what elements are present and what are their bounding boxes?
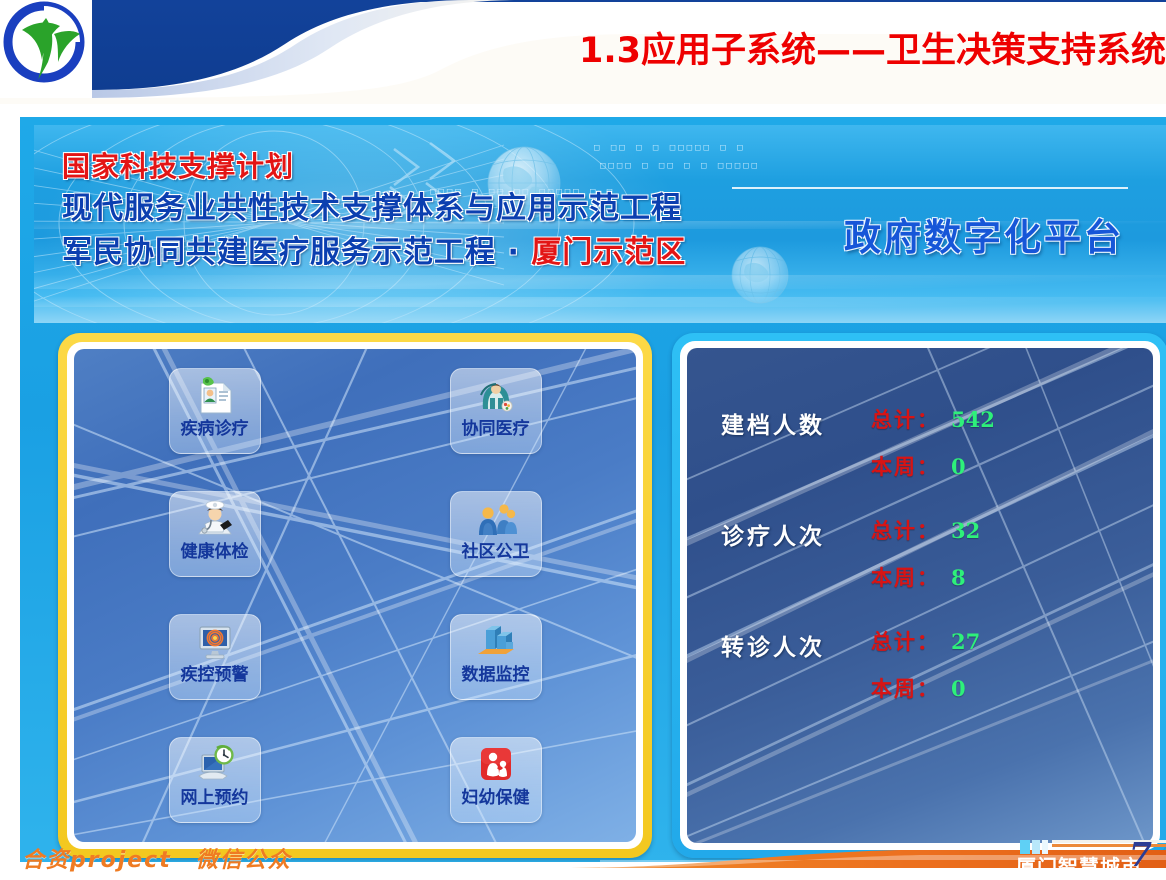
app-tile-label: 社区公卫	[462, 542, 530, 562]
stat-week-key: 本周：	[871, 451, 940, 481]
statistics-panel: 建档人数 总计： 542 本周： 0	[672, 333, 1166, 858]
stat-week: 本周： 8	[871, 562, 980, 592]
banner-line3-main: 军民协同共建医疗服务示范工程 ·	[62, 235, 531, 270]
application-tile-grid: 疾病诊疗	[74, 349, 636, 842]
app-cell: 协同医疗	[355, 349, 636, 472]
project-banner: □ □□ □ □ □□□□□ □ □ □□□□ □ □□ □ □ □□□□□ □…	[34, 125, 1166, 323]
collaborative-care-icon	[474, 375, 518, 417]
patient-record-icon	[193, 375, 237, 417]
app-cell: 疾控预警	[74, 596, 355, 719]
app-tile-disease-diagnosis[interactable]: 疾病诊疗	[169, 368, 261, 454]
disease-alert-monitor-icon	[193, 621, 237, 663]
stat-week-value: 8	[951, 565, 966, 590]
stat-values: 总计： 32 本周： 8	[871, 515, 980, 592]
app-cell: 数据监控	[355, 596, 636, 719]
stat-total-key: 总计：	[871, 515, 940, 545]
stat-week-key: 本周：	[871, 673, 940, 703]
app-tile-collaborative-care[interactable]: 协同医疗	[450, 368, 542, 454]
maternal-child-health-icon	[474, 744, 518, 786]
stat-row-visits: 诊疗人次 总计： 32 本周： 8	[687, 515, 1153, 592]
stat-values: 总计： 27 本周： 0	[871, 626, 980, 703]
app-tile-label: 疾病诊疗	[181, 419, 249, 439]
stat-row-referrals: 转诊人次 总计： 27 本周： 0	[687, 626, 1153, 703]
stat-total: 总计： 542	[871, 404, 995, 434]
app-tile-label: 协同医疗	[462, 419, 530, 439]
stat-week-value: 0	[951, 676, 966, 701]
panel-row: 疾病诊疗	[34, 333, 1166, 858]
app-cell: 社区公卫	[355, 472, 636, 595]
stat-week: 本周： 0	[871, 451, 995, 481]
stat-week: 本周： 0	[871, 673, 980, 703]
stat-total: 总计： 32	[871, 515, 980, 545]
stat-total-value: 542	[951, 407, 995, 432]
stat-label: 转诊人次	[721, 626, 871, 662]
company-logo	[0, 0, 92, 88]
stat-total-value: 27	[951, 629, 980, 654]
statistics-canvas: 建档人数 总计： 542 本周： 0	[687, 348, 1153, 843]
online-appointment-icon	[193, 744, 237, 786]
app-tile-data-monitoring[interactable]: 数据监控	[450, 614, 542, 700]
banner-platform-title: 政府数字化平台	[844, 207, 1124, 261]
stat-values: 总计： 542 本周： 0	[871, 404, 995, 481]
stat-total-key: 总计：	[871, 626, 940, 656]
banner-line-subject: 现代服务业共性技术支撑体系与应用示范工程	[62, 187, 686, 231]
applications-canvas: 疾病诊疗	[74, 349, 636, 842]
page-title: 1.3应用子系统——卫生决策支持系统	[579, 28, 1166, 74]
stat-week-value: 0	[951, 454, 966, 479]
app-tile-label: 健康体检	[181, 542, 249, 562]
banner-line-program: 国家科技支撑计划	[62, 147, 686, 187]
banner-line3-highlight: 厦门示范区	[531, 235, 686, 270]
app-tile-label: 疾控预警	[181, 665, 249, 685]
community-people-icon	[474, 498, 518, 540]
statistics-panel-inner: 建档人数 总计： 542 本周： 0	[680, 341, 1160, 850]
banner-divider-rule	[732, 187, 1128, 189]
banner-text-block: 国家科技支撑计划 现代服务业共性技术支撑体系与应用示范工程 军民协同共建医疗服务…	[62, 147, 686, 275]
stat-row-registered: 建档人数 总计： 542 本周： 0	[687, 404, 1153, 481]
stat-week-key: 本周：	[871, 562, 940, 592]
app-cell: 健康体检	[74, 472, 355, 595]
app-tile-community-health[interactable]: 社区公卫	[450, 491, 542, 577]
stat-label: 诊疗人次	[721, 515, 871, 551]
stat-label: 建档人数	[721, 404, 871, 440]
app-cell: 妇幼保健	[355, 719, 636, 842]
stat-total-key: 总计：	[871, 404, 940, 434]
app-tile-disease-alert[interactable]: 疾控预警	[169, 614, 261, 700]
banner-line-project: 军民协同共建医疗服务示范工程 · 厦门示范区	[62, 231, 686, 275]
stat-total: 总计： 27	[871, 626, 980, 656]
app-tile-label: 妇幼保健	[462, 788, 530, 808]
app-tile-label: 网上预约	[181, 788, 249, 808]
statistics-list: 建档人数 总计： 542 本周： 0	[687, 404, 1153, 737]
app-tile-maternal-child-health[interactable]: 妇幼保健	[450, 737, 542, 823]
slide-header: 1.3应用子系统——卫生决策支持系统	[0, 0, 1166, 104]
bar-chart-monitor-icon	[474, 621, 518, 663]
applications-panel-inner: 疾病诊疗	[67, 342, 643, 849]
doctor-exam-icon	[193, 498, 237, 540]
app-tile-online-appointment[interactable]: 网上预约	[169, 737, 261, 823]
applications-panel: 疾病诊疗	[58, 333, 652, 858]
app-tile-health-checkup[interactable]: 健康体检	[169, 491, 261, 577]
stat-total-value: 32	[951, 518, 980, 543]
application-stage: □ □□ □ □ □□□□□ □ □ □□□□ □ □□ □ □ □□□□□ □…	[20, 117, 1166, 862]
app-cell: 疾病诊疗	[74, 349, 355, 472]
app-tile-label: 数据监控	[462, 665, 530, 685]
app-cell: 网上预约	[74, 719, 355, 842]
